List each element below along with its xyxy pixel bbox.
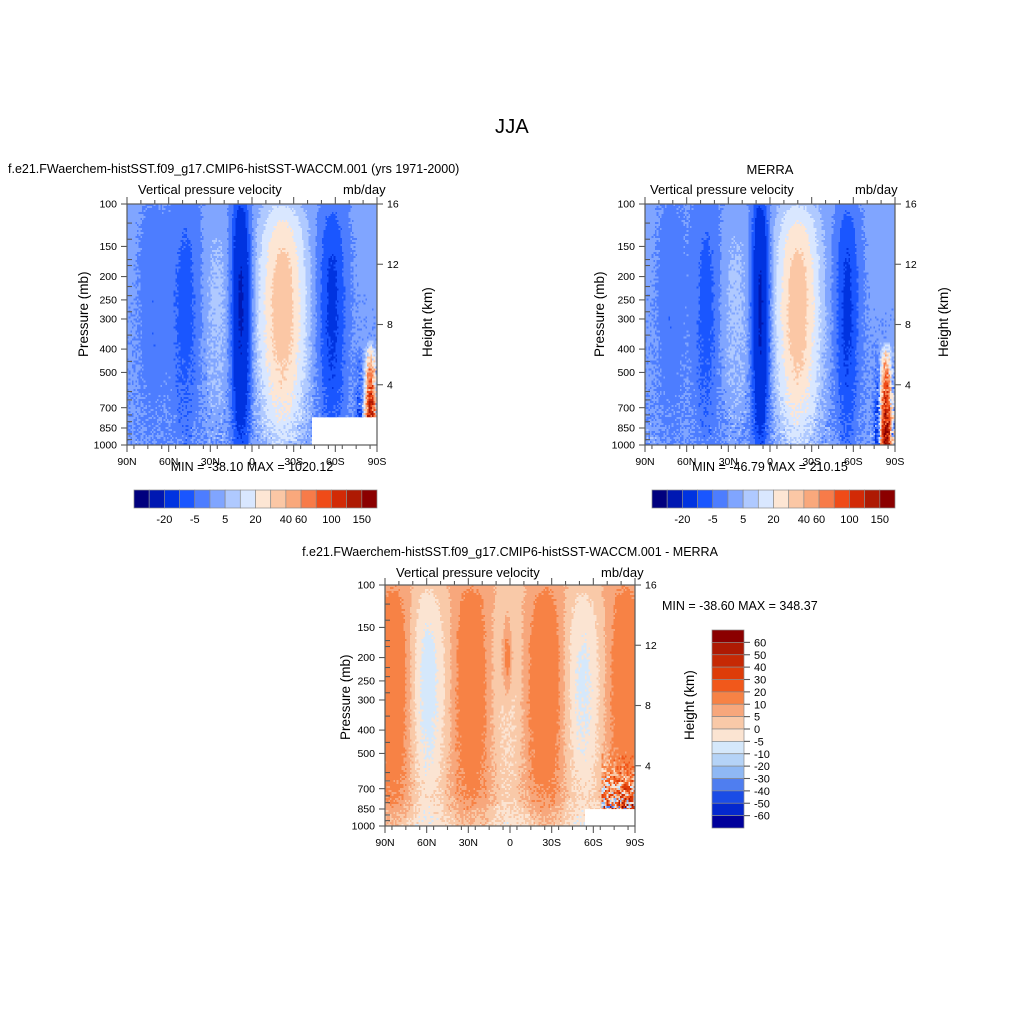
colorbar-cell[interactable] bbox=[667, 490, 682, 508]
colorbar-cell[interactable] bbox=[712, 717, 744, 729]
pressure-tick-label: 200 bbox=[357, 652, 375, 664]
colorbar-cell[interactable] bbox=[240, 490, 255, 508]
colorbar-cell[interactable] bbox=[134, 490, 149, 508]
colorbar-cell[interactable] bbox=[195, 490, 210, 508]
colorbar-cell[interactable] bbox=[712, 667, 744, 679]
latitude-tick-label: 60N bbox=[417, 837, 436, 849]
latitude-tick-label: 30S bbox=[802, 456, 821, 468]
pressure-tick-label: 850 bbox=[99, 423, 117, 435]
colorbar-cell[interactable] bbox=[712, 766, 744, 778]
colorbar-tick-label: 60 bbox=[813, 514, 825, 526]
colorbar-cell[interactable] bbox=[362, 490, 377, 508]
latitude-tick-label: 30S bbox=[284, 456, 303, 468]
pressure-tick-label: 100 bbox=[99, 199, 117, 211]
pressure-tick-label: 1000 bbox=[612, 440, 636, 452]
height-tick-label: 12 bbox=[905, 259, 917, 271]
colorbar-tick-label: -20 bbox=[156, 514, 172, 526]
colorbar-tick-label: -30 bbox=[754, 774, 770, 786]
latitude-tick-label: 0 bbox=[767, 456, 773, 468]
pressure-tick-label: 700 bbox=[617, 402, 635, 414]
colorbar-tick-label: 40 bbox=[798, 514, 810, 526]
height-tick-label: 16 bbox=[645, 580, 657, 592]
panel-model-plot: 100150200250300400500700850100016128490N… bbox=[0, 0, 520, 540]
colorbar-tick-label: 20 bbox=[767, 514, 779, 526]
latitude-tick-label: 60S bbox=[584, 837, 603, 849]
colorbar-tick-label: 100 bbox=[322, 514, 340, 526]
pressure-tick-label: 700 bbox=[99, 402, 117, 414]
colorbar-cell[interactable] bbox=[712, 655, 744, 667]
colorbar-tick-label: -5 bbox=[754, 736, 764, 748]
colorbar-cell[interactable] bbox=[331, 490, 346, 508]
colorbar-cell[interactable] bbox=[758, 490, 773, 508]
colorbar-cell[interactable] bbox=[774, 490, 789, 508]
colorbar-tick-label: -40 bbox=[754, 786, 770, 798]
colorbar-tick-label: -5 bbox=[708, 514, 718, 526]
colorbar-cell[interactable] bbox=[849, 490, 864, 508]
latitude-tick-label: 0 bbox=[507, 837, 513, 849]
pressure-tick-label: 850 bbox=[617, 423, 635, 435]
latitude-tick-label: 90S bbox=[886, 456, 905, 468]
colorbar-cell[interactable] bbox=[712, 803, 744, 815]
colorbar-tick-label: 150 bbox=[871, 514, 889, 526]
colorbar-tick-label: -50 bbox=[754, 798, 770, 810]
colorbar-cell[interactable] bbox=[712, 816, 744, 828]
latitude-tick-label: 30N bbox=[201, 456, 220, 468]
pressure-tick-label: 300 bbox=[99, 314, 117, 326]
pressure-tick-label: 250 bbox=[99, 295, 117, 307]
pressure-tick-label: 300 bbox=[357, 695, 375, 707]
colorbar-tick-label: 5 bbox=[754, 712, 760, 724]
contour-field: 100150200250300400500700850100016128490N… bbox=[612, 197, 917, 468]
pressure-tick-label: 400 bbox=[357, 725, 375, 737]
latitude-tick-label: 90N bbox=[635, 456, 654, 468]
height-tick-label: 12 bbox=[645, 640, 657, 652]
contour-field: 100150200250300400500700850100016128490N… bbox=[352, 578, 657, 849]
colorbar-cell[interactable] bbox=[880, 490, 895, 508]
colorbar-cell[interactable] bbox=[149, 490, 164, 508]
height-tick-label: 4 bbox=[645, 760, 651, 772]
colorbar-tick-label: 30 bbox=[754, 675, 766, 687]
pressure-tick-label: 100 bbox=[617, 199, 635, 211]
colorbar-cell[interactable] bbox=[712, 642, 744, 654]
colorbar-cell[interactable] bbox=[865, 490, 880, 508]
colorbar-tick-label: -60 bbox=[754, 811, 770, 823]
colorbar-tick-label: 20 bbox=[754, 687, 766, 699]
colorbar-cell[interactable] bbox=[712, 704, 744, 716]
colorbar-tick-label: 0 bbox=[754, 724, 760, 736]
colorbar-tick-label: 5 bbox=[222, 514, 228, 526]
colorbar-cell[interactable] bbox=[271, 490, 286, 508]
latitude-tick-label: 30N bbox=[459, 837, 478, 849]
colorbar-tick-label: -5 bbox=[190, 514, 200, 526]
colorbar-tick-label: -20 bbox=[754, 761, 770, 773]
colorbar-cell[interactable] bbox=[316, 490, 331, 508]
colorbar-cell[interactable] bbox=[682, 490, 697, 508]
colorbar-cell[interactable] bbox=[347, 490, 362, 508]
colorbar-cell[interactable] bbox=[712, 741, 744, 753]
colorbar-tick-label: 5 bbox=[740, 514, 746, 526]
colorbar-tick-label: -10 bbox=[754, 749, 770, 761]
colorbar-cell[interactable] bbox=[712, 680, 744, 692]
colorbar-cell[interactable] bbox=[286, 490, 301, 508]
colorbar-cell[interactable] bbox=[698, 490, 713, 508]
colorbar-cell[interactable] bbox=[728, 490, 743, 508]
latitude-tick-label: 90S bbox=[626, 837, 645, 849]
pressure-tick-label: 200 bbox=[617, 271, 635, 283]
colorbar-tick-label: 20 bbox=[249, 514, 261, 526]
colorbar-tick-label: 60 bbox=[754, 637, 766, 649]
latitude-tick-label: 30S bbox=[542, 837, 561, 849]
panel-diff-plot: 100150200250300400500700850100016128490N… bbox=[260, 560, 820, 860]
latitude-tick-label: 60S bbox=[844, 456, 863, 468]
colorbar-absolute[interactable]: -20-55204060100150 bbox=[652, 490, 895, 526]
colorbar-cell[interactable] bbox=[652, 490, 667, 508]
colorbar-cell[interactable] bbox=[712, 729, 744, 741]
height-tick-label: 8 bbox=[905, 319, 911, 331]
pressure-tick-label: 100 bbox=[357, 580, 375, 592]
height-tick-label: 16 bbox=[387, 199, 399, 211]
panel-obs-plot: 100150200250300400500700850100016128490N… bbox=[518, 0, 1024, 540]
colorbar-tick-label: 150 bbox=[353, 514, 371, 526]
colorbar-cell[interactable] bbox=[789, 490, 804, 508]
colorbar-cell[interactable] bbox=[712, 630, 744, 642]
latitude-tick-label: 90N bbox=[117, 456, 136, 468]
colorbar-cell[interactable] bbox=[712, 754, 744, 766]
colorbar-cell[interactable] bbox=[210, 490, 225, 508]
height-tick-label: 4 bbox=[905, 379, 911, 391]
colorbar-tick-label: 40 bbox=[754, 662, 766, 674]
latitude-tick-label: 60S bbox=[326, 456, 345, 468]
colorbar-cell[interactable] bbox=[180, 490, 195, 508]
pressure-tick-label: 300 bbox=[617, 314, 635, 326]
colorbar-difference[interactable]: 60504030201050-5-10-20-30-40-50-60 bbox=[712, 630, 770, 828]
colorbar-cell[interactable] bbox=[712, 779, 744, 791]
latitude-tick-label: 90N bbox=[375, 837, 394, 849]
colorbar-tick-label: 60 bbox=[295, 514, 307, 526]
pressure-tick-label: 500 bbox=[99, 367, 117, 379]
colorbar-absolute[interactable]: -20-55204060100150 bbox=[134, 490, 377, 526]
colorbar-tick-label: 100 bbox=[840, 514, 858, 526]
colorbar-cell[interactable] bbox=[164, 490, 179, 508]
height-tick-label: 16 bbox=[905, 199, 917, 211]
colorbar-cell[interactable] bbox=[834, 490, 849, 508]
pressure-tick-label: 150 bbox=[99, 241, 117, 253]
pressure-tick-label: 850 bbox=[357, 804, 375, 816]
contour-field: 100150200250300400500700850100016128490N… bbox=[94, 197, 399, 468]
pressure-tick-label: 150 bbox=[617, 241, 635, 253]
latitude-tick-label: 30N bbox=[719, 456, 738, 468]
height-tick-label: 12 bbox=[387, 259, 399, 271]
latitude-tick-label: 60N bbox=[677, 456, 696, 468]
height-tick-label: 8 bbox=[645, 700, 651, 712]
pressure-tick-label: 150 bbox=[357, 622, 375, 634]
colorbar-tick-label: 50 bbox=[754, 650, 766, 662]
colorbar-cell[interactable] bbox=[713, 490, 728, 508]
height-tick-label: 4 bbox=[387, 379, 393, 391]
pressure-tick-label: 250 bbox=[357, 676, 375, 688]
colorbar-cell[interactable] bbox=[301, 490, 316, 508]
colorbar-tick-label: 40 bbox=[280, 514, 292, 526]
colorbar-cell[interactable] bbox=[712, 791, 744, 803]
colorbar-cell[interactable] bbox=[225, 490, 240, 508]
height-tick-label: 8 bbox=[387, 319, 393, 331]
pressure-tick-label: 500 bbox=[357, 748, 375, 760]
colorbar-cell[interactable] bbox=[804, 490, 819, 508]
pressure-tick-label: 1000 bbox=[94, 440, 118, 452]
pressure-tick-label: 700 bbox=[357, 783, 375, 795]
pressure-tick-label: 400 bbox=[99, 344, 117, 356]
colorbar-cell[interactable] bbox=[743, 490, 758, 508]
pressure-tick-label: 250 bbox=[617, 295, 635, 307]
colorbar-cell[interactable] bbox=[256, 490, 271, 508]
pressure-tick-label: 200 bbox=[99, 271, 117, 283]
colorbar-tick-label: 10 bbox=[754, 699, 766, 711]
colorbar-cell[interactable] bbox=[712, 692, 744, 704]
panel-diff-caption: f.e21.FWaerchem-histSST.f09_g17.CMIP6-hi… bbox=[260, 545, 760, 559]
pressure-tick-label: 500 bbox=[617, 367, 635, 379]
latitude-tick-label: 90S bbox=[368, 456, 387, 468]
latitude-tick-label: 0 bbox=[249, 456, 255, 468]
colorbar-tick-label: -20 bbox=[674, 514, 690, 526]
below-ground-mask bbox=[312, 417, 377, 445]
below-ground-mask bbox=[585, 809, 635, 826]
pressure-tick-label: 400 bbox=[617, 344, 635, 356]
pressure-tick-label: 1000 bbox=[352, 821, 376, 833]
latitude-tick-label: 60N bbox=[159, 456, 178, 468]
colorbar-cell[interactable] bbox=[819, 490, 834, 508]
